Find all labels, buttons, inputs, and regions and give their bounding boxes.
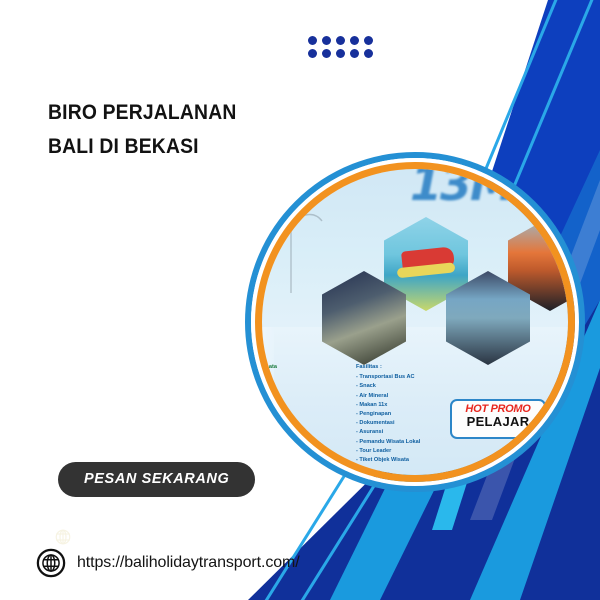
dot [336,36,345,45]
circle-orange-ring [255,162,575,482]
website-link[interactable]: https://baliholidaytransport.com/ [36,548,300,578]
website-url-text: https://baliholidaytransport.com/ [77,554,300,572]
globe-icon [36,548,66,578]
list-item: - Tanjung Benoa [262,410,277,419]
dot [350,36,359,45]
list-item: - Pantai Pandawa [262,428,277,437]
dot [336,49,345,58]
dot [364,49,373,58]
pesan-sekarang-button[interactable]: PESAN SEKARANG [58,462,255,497]
dot [308,36,317,45]
poster-canvas: BIRO PERJALANAN BALI DI BEKASI [0,0,600,600]
dot [308,49,317,58]
dot [322,49,331,58]
dot-grid-decoration [308,36,378,62]
globe-watermark-icon [54,528,72,546]
dot [322,36,331,45]
list-item: - Pasar Sukawati [262,438,277,447]
dot [350,49,359,58]
circular-photo-frame: 13MU Pilihan Objek Wisata - Bedugul - Pa… [245,152,585,492]
list-item: - GWK [262,401,277,410]
list-item: - Tanah Lot [262,419,277,428]
dot [364,36,373,45]
